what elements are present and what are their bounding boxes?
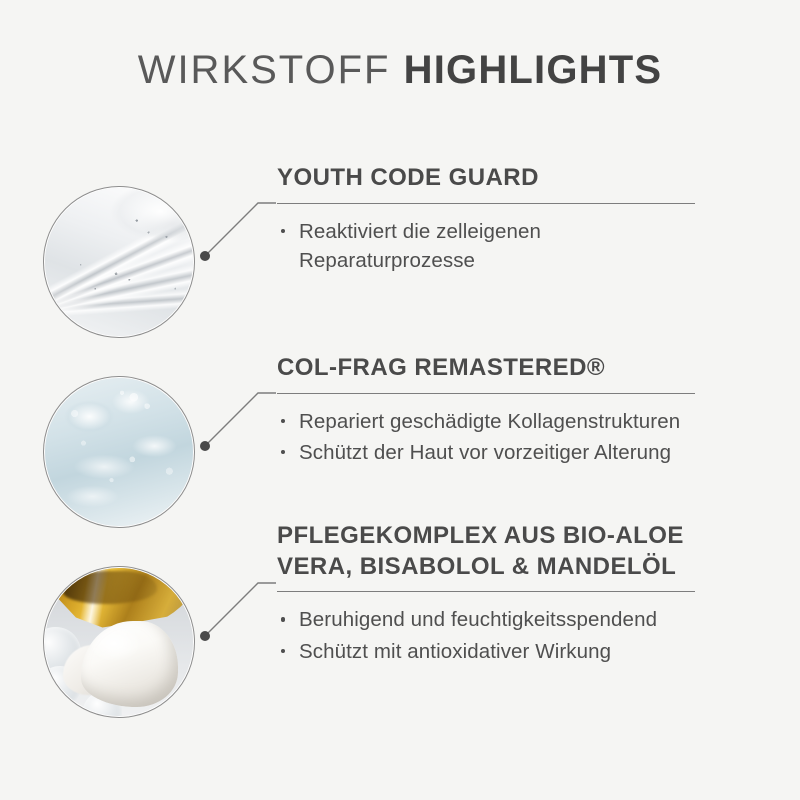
section-heading-3-line-2: VERA, BISABOLOL & MANDELÖL <box>277 552 695 583</box>
highlight-text-block-1: YOUTH CODE GUARD Reaktiviert die zelleig… <box>277 163 695 275</box>
bullet-list-2: Repariert geschädigte Kollagenstrukturen… <box>277 407 695 467</box>
bullet-list-1: Reaktiviert die zelleigenen Reparaturpro… <box>277 217 695 275</box>
section-heading-2: COL-FRAG REMASTERED® <box>277 353 695 384</box>
section-divider-2 <box>277 393 695 394</box>
section-heading-1: YOUTH CODE GUARD <box>277 163 695 194</box>
blue-gel-texture <box>45 378 193 526</box>
connector-line-3 <box>196 572 276 646</box>
amber-oil-shadow <box>63 571 158 604</box>
section-divider-3 <box>277 591 695 592</box>
page-title-light: WIRKSTOFF <box>138 48 391 92</box>
clear-gel-texture <box>45 188 193 336</box>
ingredient-image-1 <box>45 188 193 336</box>
cream-and-oil-texture <box>45 568 193 716</box>
list-item: Schützt der Haut vor vorzeitiger Alterun… <box>277 438 695 467</box>
highlight-text-block-3: PFLEGEKOMPLEX AUS BIO-ALOE VERA, BISABOL… <box>277 521 695 666</box>
connector-line-1 <box>196 192 276 266</box>
cream-dollop <box>81 621 179 707</box>
highlight-text-block-2: COL-FRAG REMASTERED® Repariert geschädig… <box>277 353 695 467</box>
list-item: Repariert geschädigte Kollagenstrukturen <box>277 407 695 436</box>
ingredient-image-2 <box>45 378 193 526</box>
list-item: Schützt mit antioxidativer Wirkung <box>277 637 695 666</box>
section-heading-3-line-1: PFLEGEKOMPLEX AUS BIO-ALOE <box>277 521 695 552</box>
bullet-list-3: Beruhigend und feuchtigkeitsspendend Sch… <box>277 605 695 665</box>
connector-line-2 <box>196 382 276 456</box>
ingredient-highlights-infographic: WIRKSTOFF HIGHLIGHTS YOUTH CODE GUARD Re… <box>0 0 800 800</box>
page-title-bold: HIGHLIGHTS <box>404 48 663 92</box>
list-item: Beruhigend und feuchtigkeitsspendend <box>277 605 695 634</box>
list-item: Reaktiviert die zelleigenen Reparaturpro… <box>277 217 695 275</box>
section-divider-1 <box>277 203 695 204</box>
page-title: WIRKSTOFF HIGHLIGHTS <box>0 48 800 92</box>
ingredient-image-3 <box>45 568 193 716</box>
